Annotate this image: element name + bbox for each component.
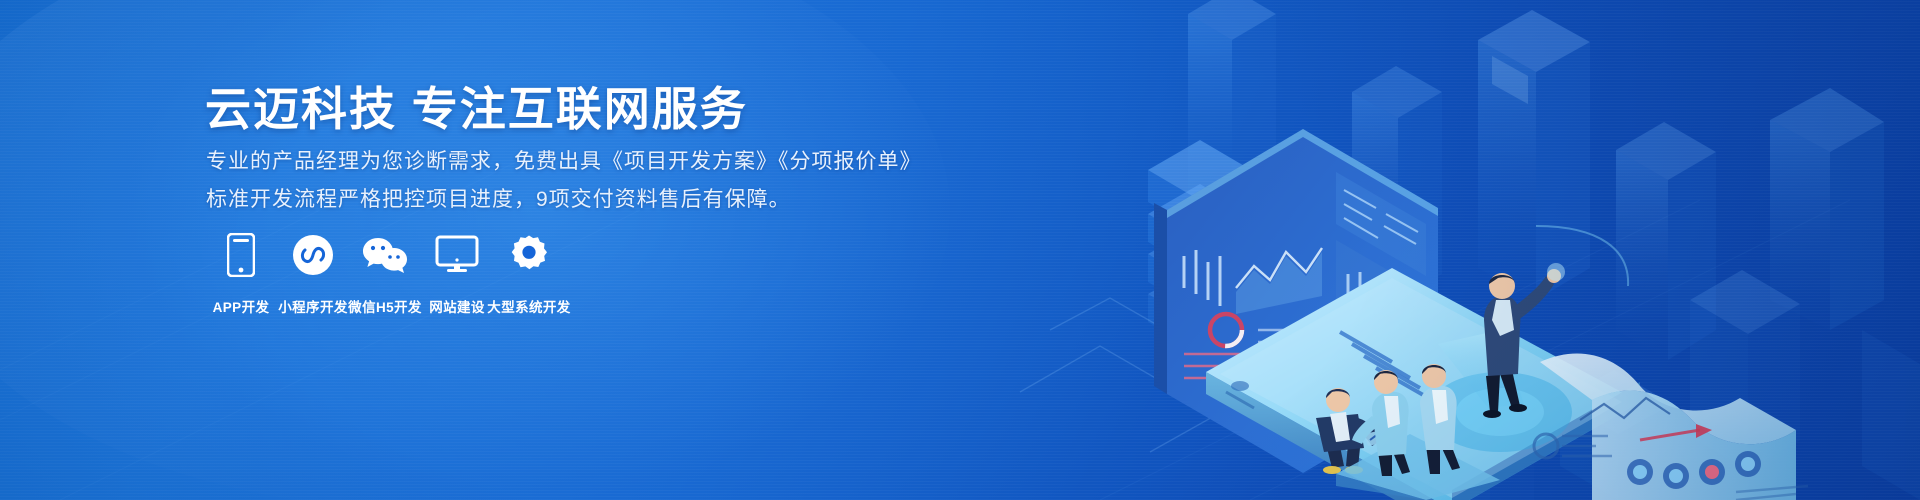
hero-content: 云迈科技 专注互联网服务 专业的产品经理为您诊断需求，免费出具《项目开发方案》《… bbox=[205, 0, 965, 500]
service-label: 大型系统开发 bbox=[487, 296, 570, 316]
subtitle-line-2: 标准开发流程严格把控项目进度，9项交付资料售后有保障。 bbox=[206, 183, 791, 213]
service-item-app[interactable]: APP开发 bbox=[205, 232, 277, 316]
service-item-large-system[interactable]: 大型系统开发 bbox=[493, 232, 565, 316]
service-label: 微信H5开发 bbox=[348, 296, 422, 316]
service-item-website[interactable]: 网站建设 bbox=[421, 232, 493, 316]
gear-icon bbox=[508, 232, 550, 278]
service-label: 小程序开发 bbox=[278, 296, 348, 316]
subtitle-line-1: 专业的产品经理为您诊断需求，免费出具《项目开发方案》《分项报价单》 bbox=[206, 145, 922, 175]
service-item-mini-program[interactable]: 小程序开发 bbox=[277, 232, 349, 316]
page-title: 云迈科技 专注互联网服务 bbox=[205, 73, 748, 139]
service-label: APP开发 bbox=[213, 296, 270, 316]
wechat-icon bbox=[362, 232, 408, 278]
mobile-phone-icon bbox=[227, 232, 255, 278]
monitor-icon bbox=[435, 232, 479, 278]
hero-banner: 云迈科技 专注互联网服务 专业的产品经理为您诊断需求，免费出具《项目开发方案》《… bbox=[0, 0, 1920, 500]
service-item-wechat-h5[interactable]: 微信H5开发 bbox=[349, 232, 421, 316]
service-label: 网站建设 bbox=[429, 296, 485, 316]
illustration bbox=[940, 0, 1920, 500]
mini-program-icon bbox=[292, 232, 334, 278]
service-list: APP开发 小程序开发 bbox=[205, 232, 565, 316]
